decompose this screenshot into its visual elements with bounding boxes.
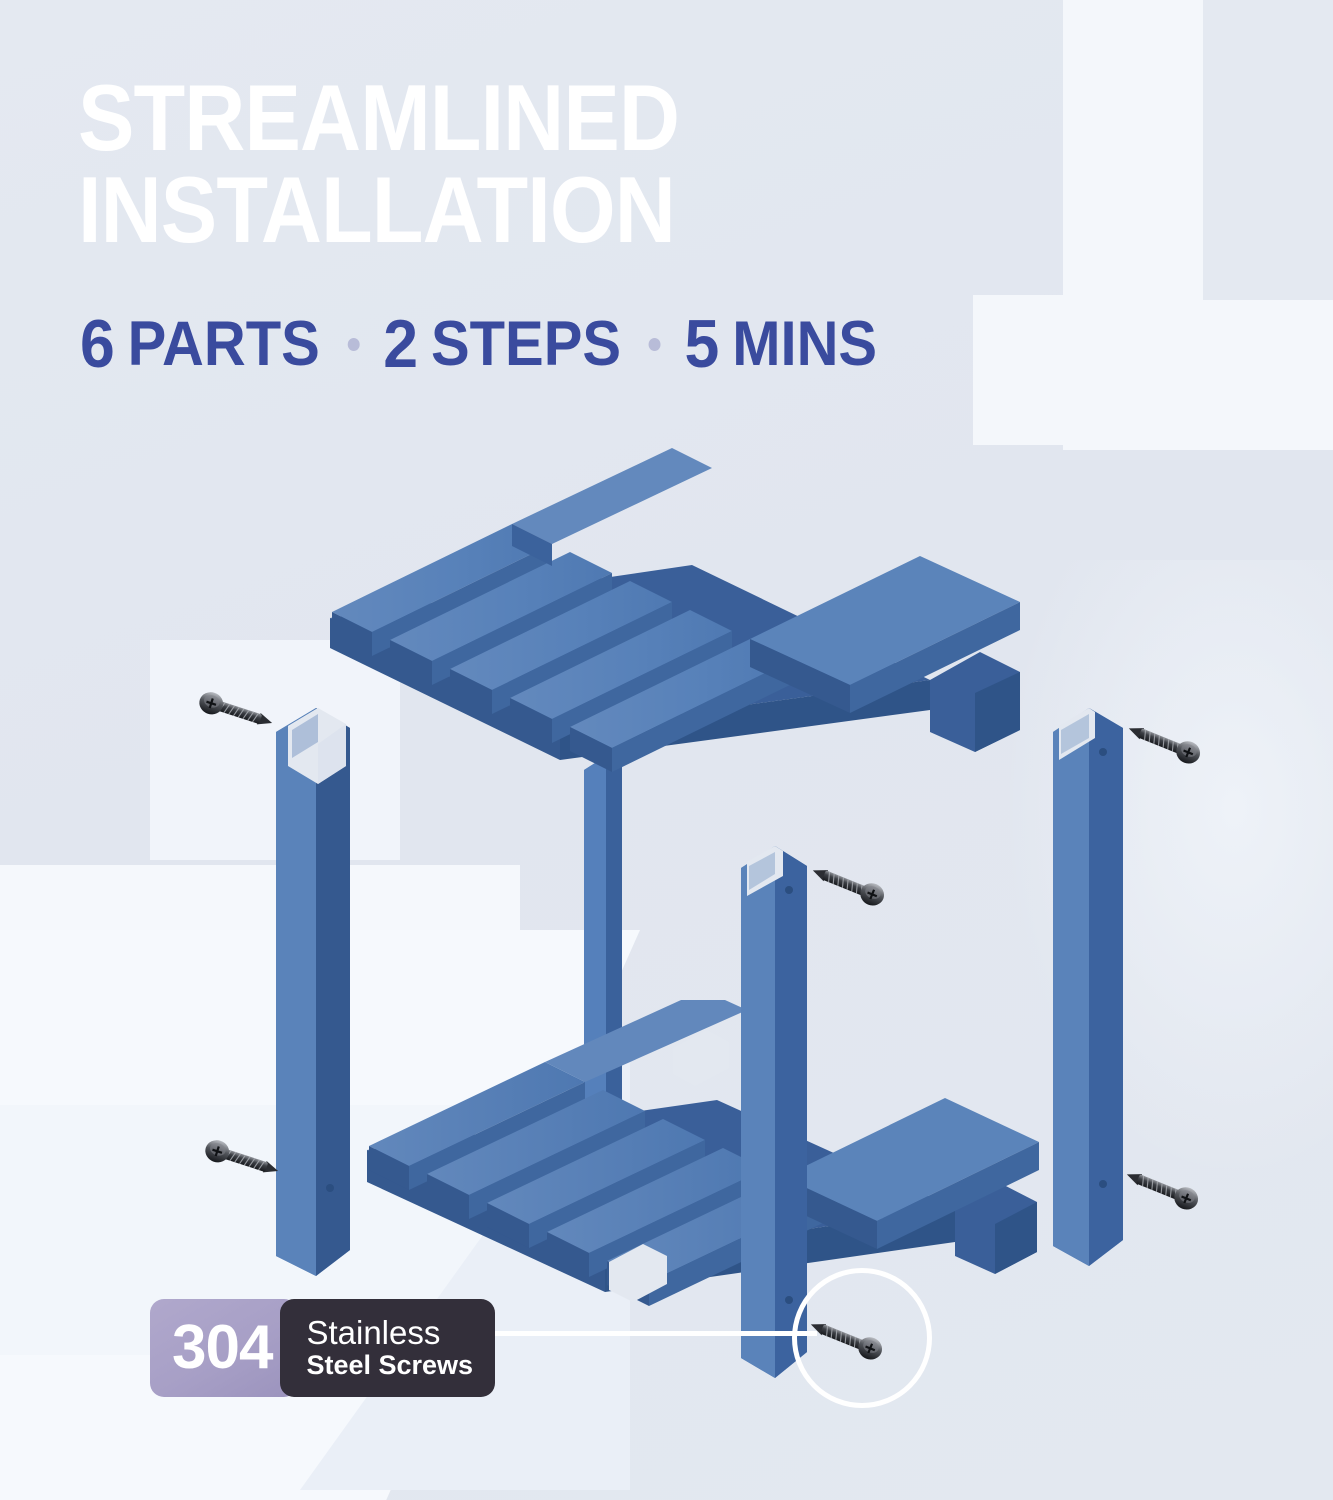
screw-zoom-callout-circle [792,1268,932,1408]
separator-dot-1 [347,338,359,351]
steps-count: 2 [383,305,418,383]
badge-material: Stainless Steel Screws [280,1299,495,1397]
bg-band-upper [0,865,520,960]
page-title: STREAMLINED INSTALLATION [78,72,888,256]
separator-dot-2 [649,338,661,351]
diagram-part-top-shelf [320,440,1080,790]
badge-grade: 304 [150,1299,298,1397]
steps-label: STEPS [431,308,621,380]
bg-corner-foot [973,295,1333,445]
diagram-part-leg-right [1045,692,1135,1292]
status-badge: 304 Stainless Steel Screws [150,1299,495,1397]
badge-grade-value: 304 [172,1317,272,1379]
headline-line-1: STREAMLINED [78,65,679,170]
callout-leader-line [487,1331,817,1336]
screw-middle-upper [803,853,895,917]
parts-label: PARTS [128,308,320,380]
headline-line-2: INSTALLATION [78,164,888,256]
diagram-part-bottom-shelf [355,1000,1045,1310]
mins-count: 5 [685,305,720,383]
parts-count: 6 [80,305,115,383]
bg-corner-chevron [1063,0,1333,450]
diagram-part-leg-left [268,690,358,1305]
stats-subline: 6 PARTS 2 STEPS 5 MINS [80,305,881,383]
badge-material-line-2: Steel Screws [306,1350,473,1381]
mins-label: MINS [732,308,877,380]
badge-material-line-1: Stainless [306,1315,473,1351]
infographic-canvas: STREAMLINED INSTALLATION 6 PARTS 2 STEPS… [0,0,1333,1500]
bg-corner-notch [1203,0,1333,300]
